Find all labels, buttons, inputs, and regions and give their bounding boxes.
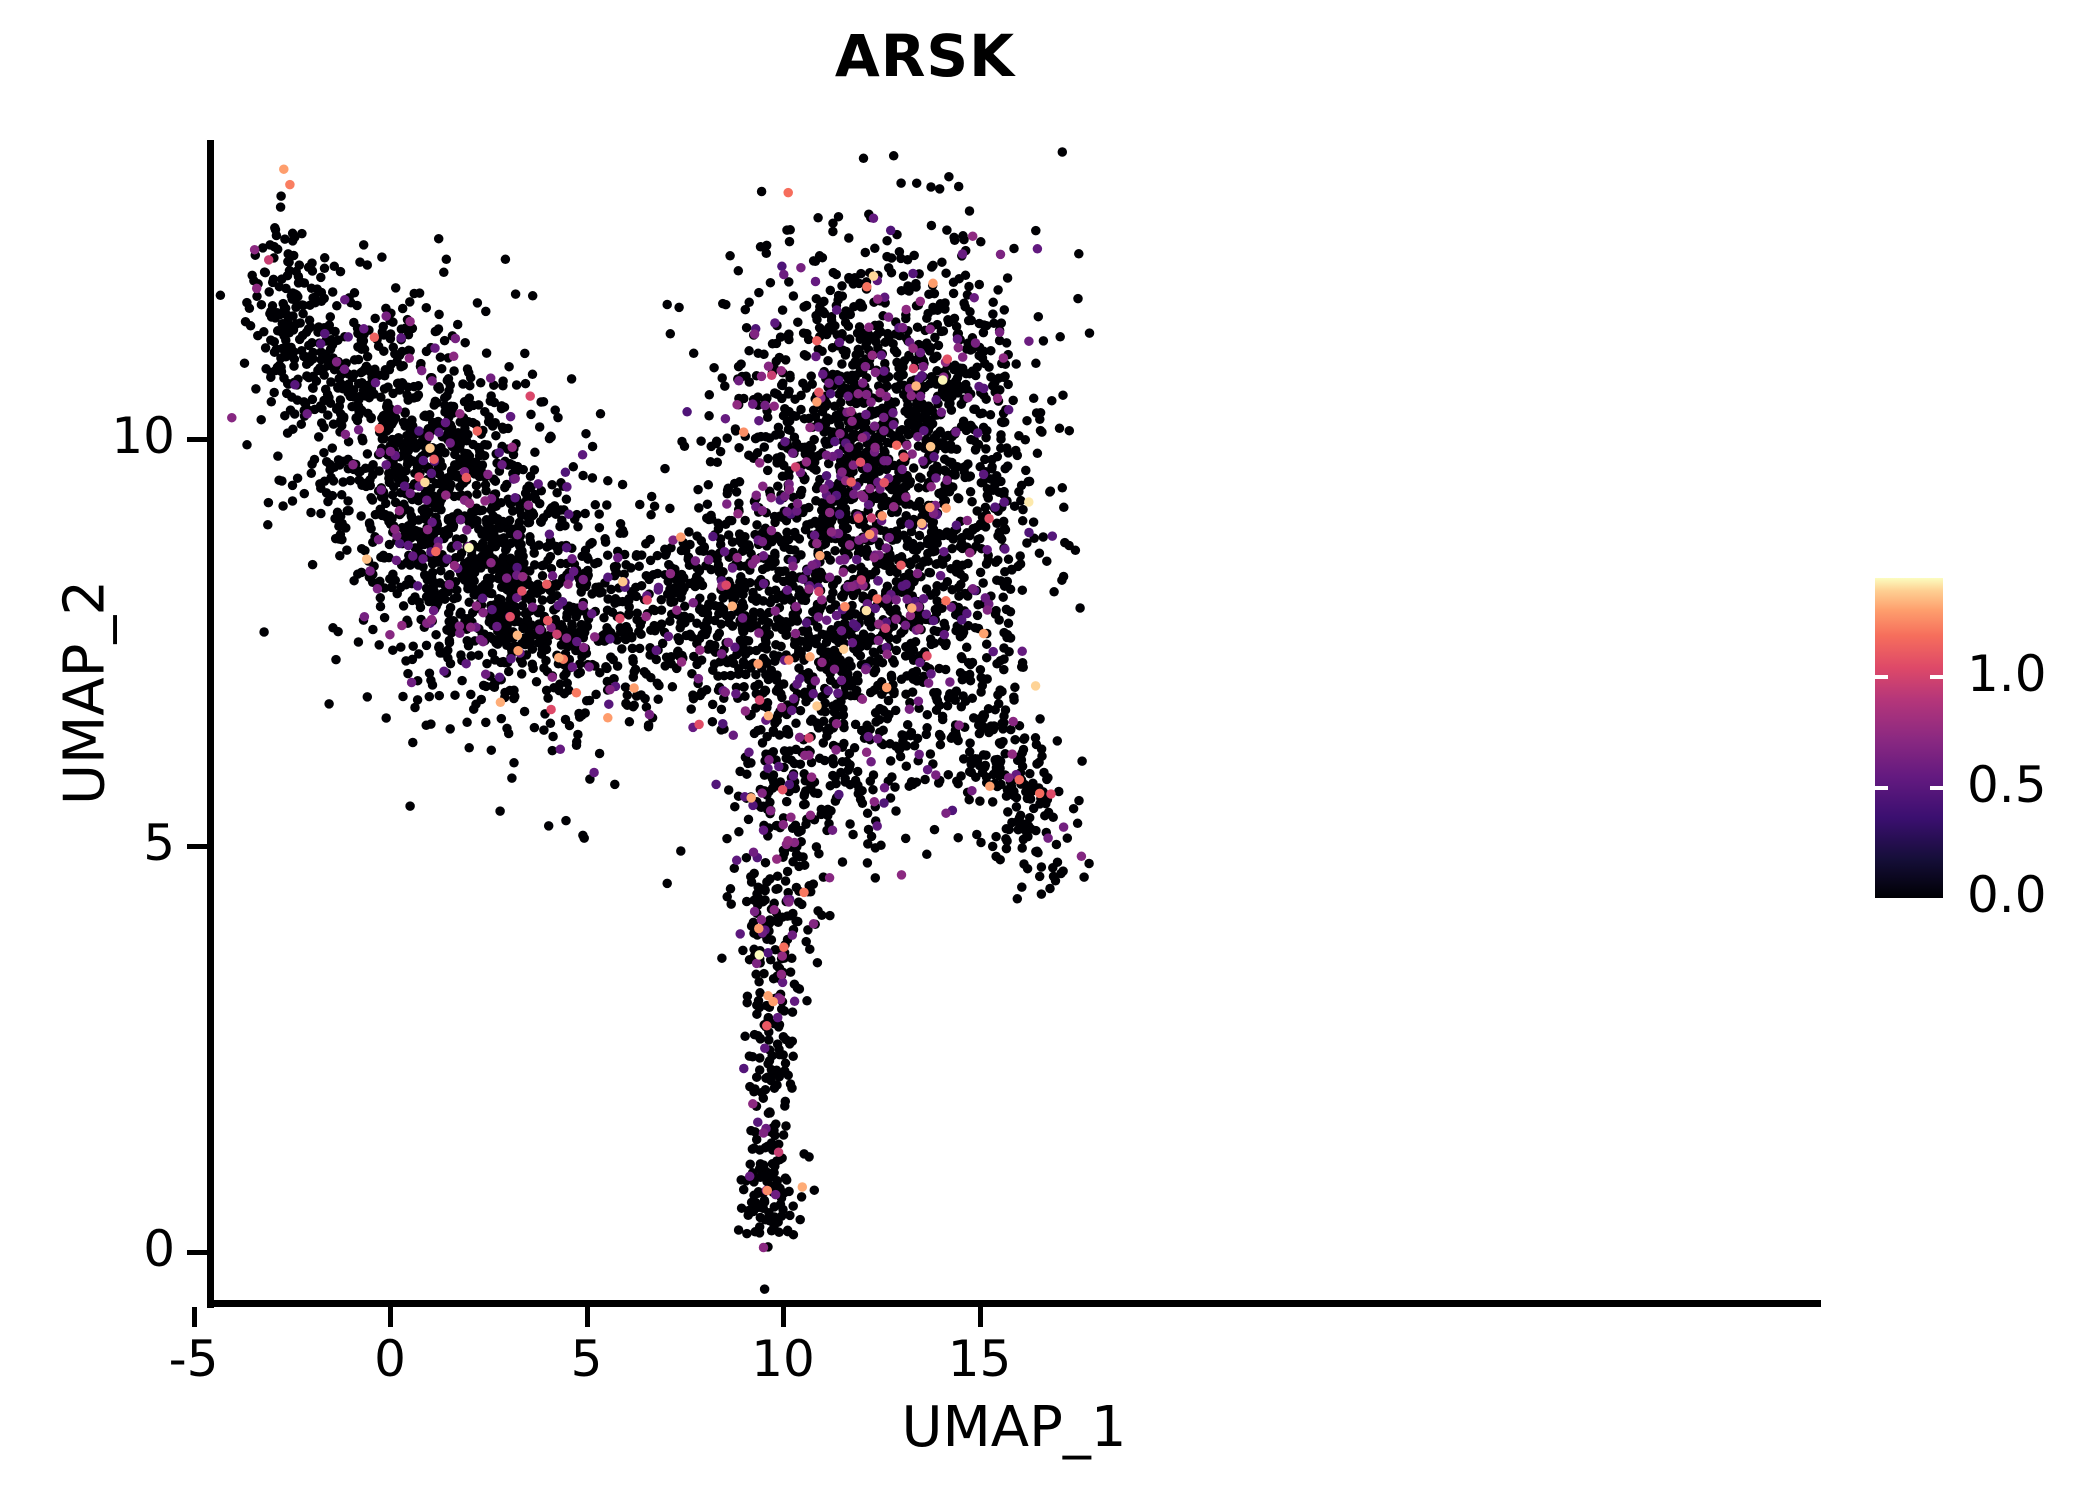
- x-tick-label: 0: [290, 1330, 490, 1388]
- y-tick-mark: [187, 1250, 207, 1255]
- umap-feature-plot: ARSK -5051015 0510 UMAP_1 UMAP_2 0.00.51…: [0, 0, 2100, 1500]
- x-tick-label: 5: [487, 1330, 687, 1388]
- colorbar-gradient: [1875, 578, 1943, 898]
- x-tick-mark: [585, 1307, 590, 1327]
- x-tick-mark: [388, 1307, 393, 1327]
- colorbar-tick-label: 1.0: [1967, 645, 2047, 703]
- y-tick-label: 0: [0, 1220, 175, 1278]
- x-axis-label: UMAP_1: [207, 1395, 1821, 1460]
- scatter-points-layer: [0, 0, 2100, 1500]
- x-tick-mark: [781, 1307, 786, 1327]
- x-tick-mark: [192, 1307, 197, 1327]
- x-axis-spine: [207, 1300, 1821, 1307]
- colorbar-tick-mark: [1930, 675, 1943, 679]
- colorbar-tick-mark: [1875, 675, 1888, 679]
- y-axis-spine: [207, 140, 214, 1308]
- scatter-points: [216, 147, 1095, 1294]
- colorbar-tick-mark: [1875, 786, 1888, 790]
- colorbar-tick-label: 0.5: [1967, 756, 2047, 814]
- x-tick-mark: [978, 1307, 983, 1327]
- y-axis-label: UMAP_2: [53, 343, 118, 1043]
- y-tick-mark: [187, 844, 207, 849]
- y-tick-mark: [187, 437, 207, 442]
- colorbar-tick-label: 0.0: [1967, 866, 2047, 924]
- x-tick-label: 15: [880, 1330, 1080, 1388]
- colorbar-tick-mark: [1930, 786, 1943, 790]
- x-tick-label: 10: [683, 1330, 883, 1388]
- x-tick-label: -5: [94, 1330, 294, 1388]
- plot-axes: -5051015 0510 UMAP_1 UMAP_2: [0, 0, 2100, 1500]
